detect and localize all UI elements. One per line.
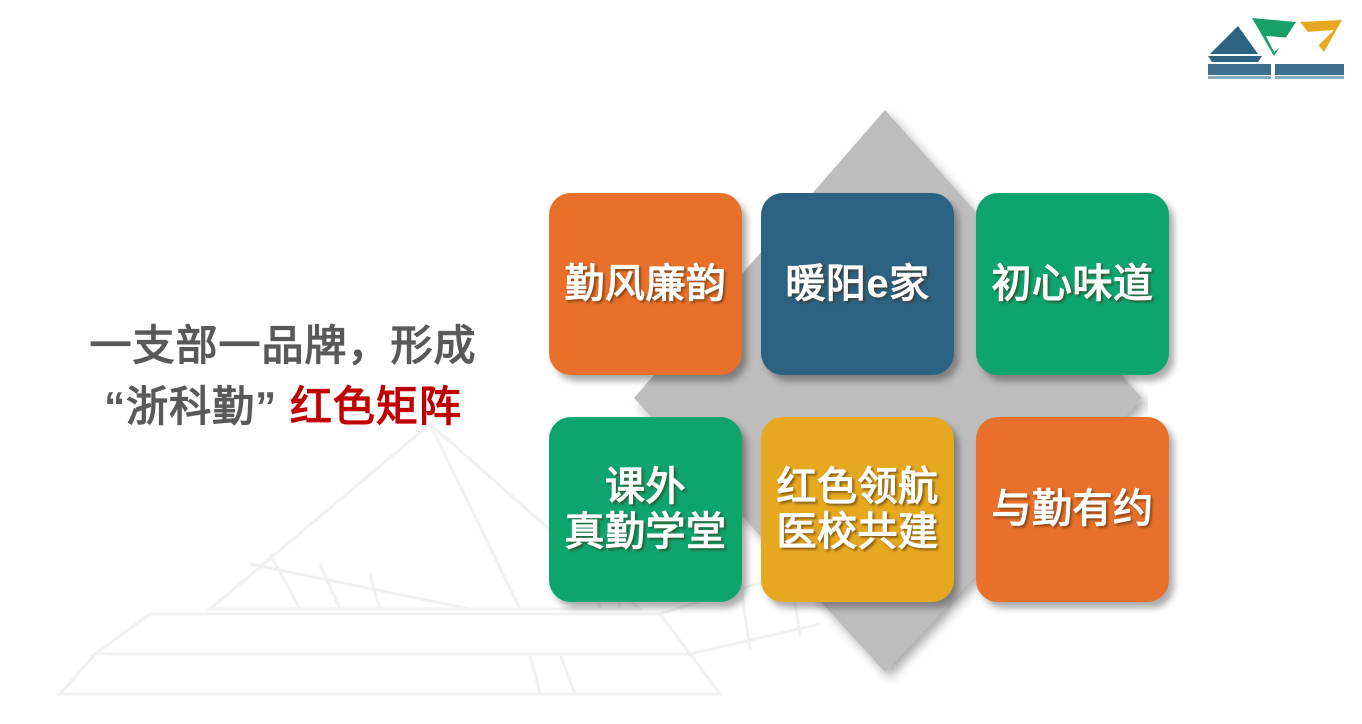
brand-card-label: 与勤有约	[992, 487, 1154, 532]
brand-card-yuqinyouyue[interactable]: 与勤有约	[976, 417, 1169, 602]
headline-block: 一支部一品牌，形成 “浙科勤” 红色矩阵	[58, 316, 508, 438]
brand-card-kewaizhenqinxuetang[interactable]: 课外 真勤学堂	[549, 417, 742, 602]
headline-quoted-brand: “浙科勤”	[104, 383, 277, 430]
brand-card-label: 初心味道	[992, 262, 1154, 307]
brand-card-qinfenglianyun[interactable]: 勤风廉韵	[549, 193, 742, 375]
brand-card-label: 课外 真勤学堂	[565, 465, 727, 555]
brand-card-chuxinweidao[interactable]: 初心味道	[976, 193, 1169, 375]
brand-card-hongselinghang-yixiaogongjian[interactable]: 红色领航 医校共建	[761, 417, 954, 602]
brand-card-label: 勤风廉韵	[565, 262, 727, 307]
headline-line-1: 一支部一品牌，形成	[58, 316, 508, 377]
organization-logo	[1200, 6, 1352, 82]
headline-accent-text: 红色矩阵	[290, 383, 462, 430]
brand-card-nuanyangejia[interactable]: 暖阳e家	[761, 193, 954, 375]
slide-canvas: 一支部一品牌，形成 “浙科勤” 红色矩阵 勤风廉韵 暖阳e家 初心味道 课外 真…	[0, 0, 1362, 724]
headline-line-2: “浙科勤” 红色矩阵	[58, 377, 508, 438]
brand-matrix-grid: 勤风廉韵 暖阳e家 初心味道 课外 真勤学堂 红色领航 医校共建 与勤有约	[549, 193, 1169, 602]
brand-card-label: 暖阳e家	[785, 262, 929, 307]
brand-card-label: 红色领航 医校共建	[777, 465, 939, 555]
